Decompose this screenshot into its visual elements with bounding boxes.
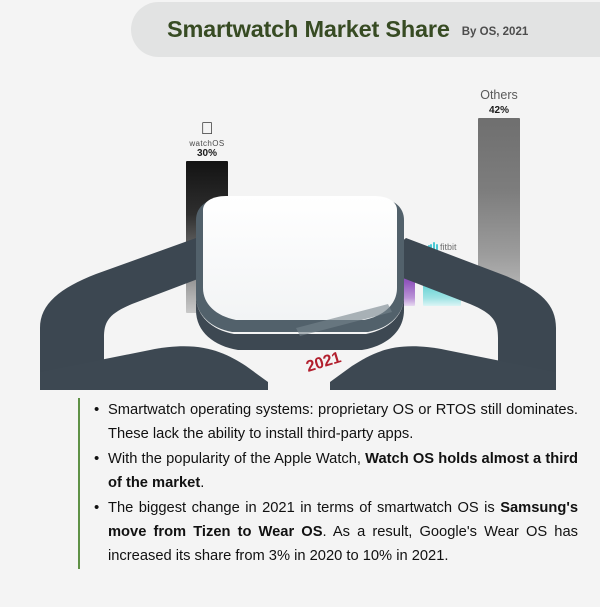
watch-face xyxy=(203,196,397,320)
list-item: • Smartwatch operating systems: propriet… xyxy=(94,398,578,446)
bullet-text-2: With the popularity of the Apple Watch, … xyxy=(108,447,578,495)
smartwatch-illustration: 2021 xyxy=(0,60,600,390)
year-label: 2021 xyxy=(304,349,343,376)
chart-illustration-stage:  watchOS 30% W Wear OS by Google 10% HU… xyxy=(0,60,600,390)
bullet-marker-icon: • xyxy=(94,496,108,568)
bullet-marker-icon: • xyxy=(94,447,108,495)
page-title: Smartwatch Market Share xyxy=(167,16,450,43)
list-item: • The biggest change in 2021 in terms of… xyxy=(94,496,578,568)
page-subtitle: By OS, 2021 xyxy=(462,26,528,38)
insight-bullets: • Smartwatch operating systems: propriet… xyxy=(78,398,578,569)
bullet-text-1: Smartwatch operating systems: proprietar… xyxy=(108,398,578,446)
bullet-marker-icon: • xyxy=(94,398,108,446)
bullet-text-3: The biggest change in 2021 in terms of s… xyxy=(108,496,578,568)
list-item: • With the popularity of the Apple Watch… xyxy=(94,447,578,495)
header-banner: Smartwatch Market Share By OS, 2021 xyxy=(131,2,600,57)
